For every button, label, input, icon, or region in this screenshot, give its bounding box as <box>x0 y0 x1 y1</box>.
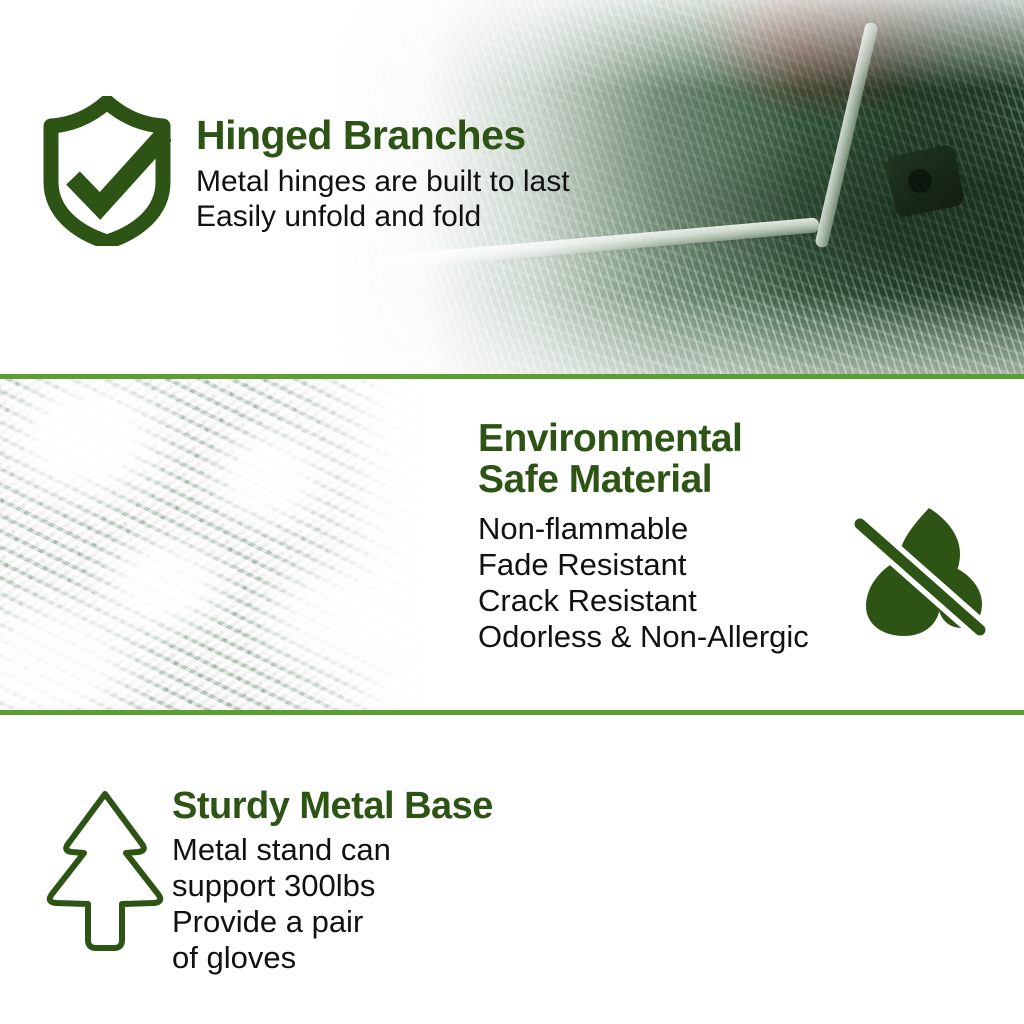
hinged-branches-body: Metal hinges are built to last Easily un… <box>196 165 570 235</box>
hinged-branches-text-block: Hinged Branches Metal hinges are built t… <box>196 114 570 235</box>
shield-check-icon <box>43 96 171 246</box>
infographic-page: Hinged Branches Metal hinges are built t… <box>0 0 1024 1024</box>
environmental-safe-material-headline: Environmental Safe Material <box>478 418 809 501</box>
environmental-safe-material-body: Non-flammable Fade Resistant Crack Resis… <box>478 511 809 655</box>
christmas-tree-outline-icon <box>30 782 180 962</box>
no-flame-icon <box>852 502 988 638</box>
feature-panel-sturdy-metal-base: Sturdy Metal Base Metal stand can suppor… <box>0 717 1024 1024</box>
photo-right-white-fade <box>0 379 432 710</box>
environmental-safe-material-text-block: Environmental Safe Material Non-flammabl… <box>478 418 809 654</box>
section-divider-2 <box>0 710 1024 715</box>
photo-snow-flocked-tree <box>0 379 432 710</box>
sturdy-metal-base-headline: Sturdy Metal Base <box>172 786 493 826</box>
hinged-branches-headline: Hinged Branches <box>196 114 570 157</box>
feature-panel-hinged-branches: Hinged Branches Metal hinges are built t… <box>0 0 1024 374</box>
sturdy-metal-base-body: Metal stand can support 300lbs Provide a… <box>172 832 493 976</box>
sturdy-metal-base-text-block: Sturdy Metal Base Metal stand can suppor… <box>172 786 493 976</box>
